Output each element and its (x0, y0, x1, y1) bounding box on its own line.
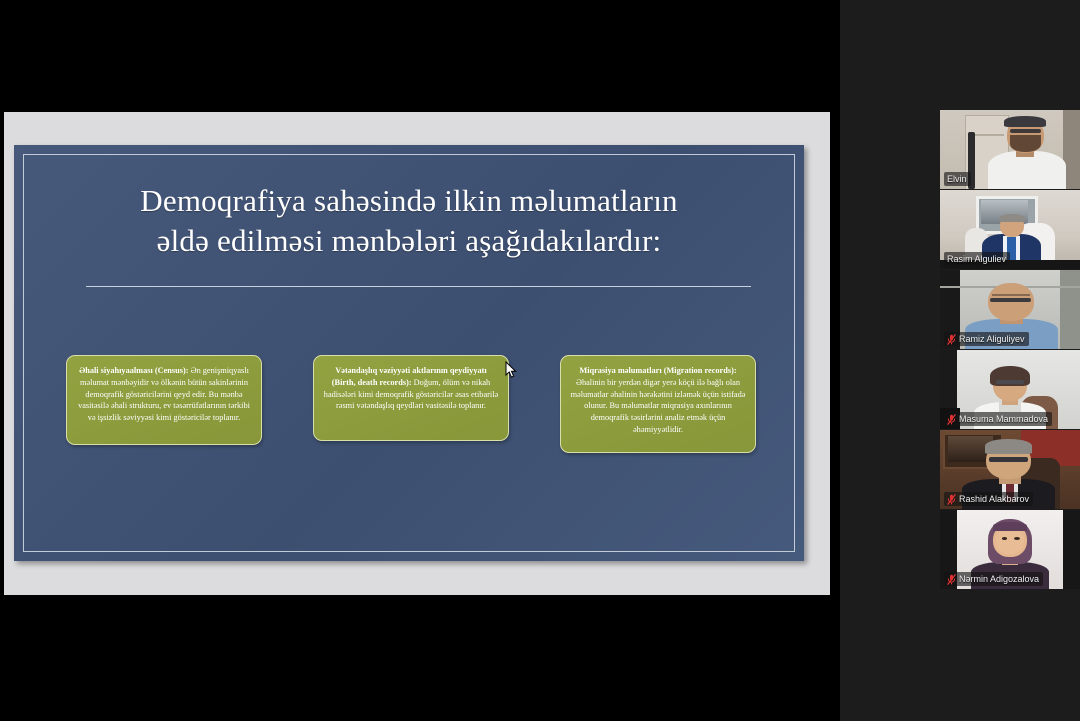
participant-name: Nərmin Adigozalova (959, 573, 1039, 585)
shared-screen-region[interactable]: Demoqrafiya sahəsində ilkin məlumatların… (0, 0, 840, 721)
microphone-muted-icon (947, 574, 956, 585)
content-box-census: Əhali siyahıyaalması (Census): Ən genişm… (66, 355, 262, 445)
content-box-migration: Miqrasiya məlumatları (Migration records… (560, 355, 756, 453)
participant-tile[interactable]: Masuma Mammadova (940, 350, 1080, 429)
meeting-stage: Demoqrafiya sahəsində ilkin məlumatların… (0, 0, 1080, 721)
participant-name: Elvin (947, 173, 967, 185)
presentation-page: Demoqrafiya sahəsində ilkin məlumatların… (4, 112, 830, 595)
participant-nameplate: Rashid Alakbarov (944, 492, 1033, 506)
slide-title-line-1: Demoqrafiya sahəsində ilkin məlumatların (54, 181, 764, 221)
participant-tile[interactable]: Nərmin Adigozalova (940, 510, 1080, 589)
content-box-vital-records: Vətəndaşlıq vəziyyəti aktlarının qeydiyy… (313, 355, 509, 441)
participant-tile[interactable]: Ramiz Aliguliyev (940, 270, 1080, 349)
participant-tile[interactable]: Elvin (940, 110, 1080, 189)
content-box-migration-text: Əhalinin bir yerdən digər yerə köçü ilə … (571, 378, 746, 434)
participant-name: Rasim Alguliev (947, 253, 1006, 265)
microphone-muted-icon (947, 414, 956, 425)
microphone-muted-icon (947, 494, 956, 505)
microphone-muted-icon (947, 334, 956, 345)
participant-nameplate: Rasim Alguliev (944, 252, 1010, 266)
participant-nameplate: Nərmin Adigozalova (944, 572, 1043, 586)
content-box-migration-lead: Miqrasiya məlumatları (Migration records… (579, 366, 736, 375)
participant-nameplate: Ramiz Aliguliyev (944, 332, 1029, 346)
participant-tile[interactable]: Rasim Alguliev (940, 190, 1080, 269)
participant-nameplate: Elvin (944, 172, 971, 186)
slide-content-boxes: Əhali siyahıyaalması (Census): Ən genişm… (66, 355, 756, 453)
title-divider (86, 286, 751, 287)
participant-name: Rashid Alakbarov (959, 493, 1029, 505)
slide-canvas: Demoqrafiya sahəsində ilkin məlumatların… (14, 145, 804, 561)
participant-name: Ramiz Aliguliyev (959, 333, 1025, 345)
participant-name: Masuma Mammadova (959, 413, 1048, 425)
participant-filmstrip[interactable]: Elvin Rasim Alguliev (940, 110, 1080, 590)
slide-title-line-2: əldə edilməsi mənbələri aşağıdakılardır: (54, 221, 764, 261)
content-box-census-lead: Əhali siyahıyaalması (Census): (79, 366, 188, 375)
participant-nameplate: Masuma Mammadova (944, 412, 1052, 426)
participant-tile[interactable]: Rashid Alakbarov (940, 430, 1080, 509)
slide-title: Demoqrafiya sahəsində ilkin məlumatların… (54, 181, 764, 262)
